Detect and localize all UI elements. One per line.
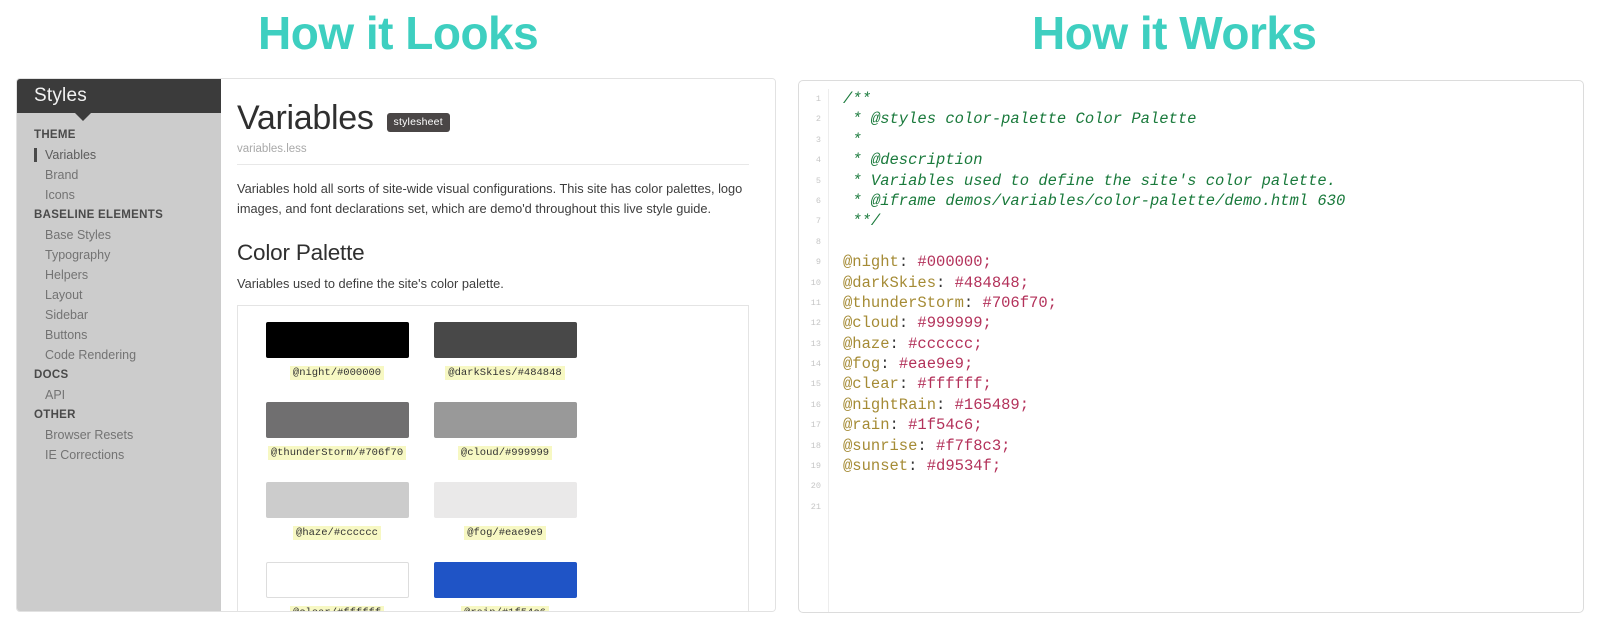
code-line: * @iframe demos/variables/color-palette/…: [843, 191, 1583, 211]
color-swatch: @rain/#1f54c6: [424, 562, 586, 611]
sidebar-item-brand[interactable]: Brand: [17, 165, 221, 185]
color-swatch-label: @night/#000000: [290, 366, 384, 380]
line-number: 21: [799, 497, 821, 517]
code-line: **/: [843, 211, 1583, 231]
color-swatch-box: [434, 562, 577, 598]
sidebar-item-label: Icons: [45, 188, 75, 202]
code-token-variable: @nightRain: [843, 396, 936, 414]
sidebar-item-api[interactable]: API: [17, 385, 221, 405]
sidebar-item-label: Code Rendering: [45, 348, 136, 362]
code-token-variable: @sunset: [843, 457, 908, 475]
code-token-colon: :: [936, 274, 955, 292]
sidebar: Styles THEMEVariablesBrandIconsBASELINE …: [17, 79, 221, 611]
line-number: 4: [799, 150, 821, 170]
code-token-variable: @rain: [843, 416, 890, 434]
code-token-semicolon: ;: [964, 355, 973, 373]
sidebar-item-label: Sidebar: [45, 308, 88, 322]
code-token-variable: @night: [843, 253, 899, 271]
color-swatch-label: @rain/#1f54c6: [461, 606, 549, 611]
code-area: 123456789101112131415161718192021 /** * …: [799, 81, 1583, 612]
section-description: Variables used to define the site's colo…: [237, 276, 749, 291]
line-number: 12: [799, 313, 821, 333]
color-swatch-box: [266, 322, 409, 358]
code-token-colon: :: [899, 314, 918, 332]
code-line: @rain: #1f54c6;: [843, 415, 1583, 435]
color-swatch-label: @fog/#eae9e9: [464, 526, 546, 540]
code-token-colon: :: [890, 335, 909, 353]
doc-title-row: Variables stylesheet: [237, 101, 749, 137]
code-line: * Variables used to define the site's co…: [843, 171, 1583, 191]
sidebar-item-label: Browser Resets: [45, 428, 133, 442]
color-swatch-label: @clear/#ffffff: [290, 606, 384, 611]
source-filename: variables.less: [237, 143, 749, 155]
code-line: @thunderStorm: #706f70;: [843, 293, 1583, 313]
code-token-semicolon: ;: [992, 457, 1001, 475]
sidebar-item-label: Brand: [45, 168, 78, 182]
code-token-comment: *: [843, 131, 862, 149]
line-number: 18: [799, 436, 821, 456]
code-token-variable: @cloud: [843, 314, 899, 332]
code-line: @haze: #cccccc;: [843, 334, 1583, 354]
color-swatch-box: [266, 482, 409, 518]
line-number: 15: [799, 374, 821, 394]
sidebar-item-label: Layout: [45, 288, 83, 302]
color-swatch-box: [266, 402, 409, 438]
code-line: @night: #000000;: [843, 252, 1583, 272]
code-token-semicolon: ;: [973, 335, 982, 353]
line-number: 10: [799, 273, 821, 293]
color-swatch-label: @darkSkies/#484848: [445, 366, 564, 380]
code-line: @sunrise: #f7f8c3;: [843, 436, 1583, 456]
styleguide-preview-panel: Styles THEMEVariablesBrandIconsBASELINE …: [16, 78, 776, 612]
code-token-variable: @clear: [843, 375, 899, 393]
code-token-variable: @sunrise: [843, 437, 917, 455]
sidebar-item-buttons[interactable]: Buttons: [17, 325, 221, 345]
line-number: 7: [799, 211, 821, 231]
page-title: Variables: [237, 101, 374, 137]
code-line: /**: [843, 89, 1583, 109]
code-line: @cloud: #999999;: [843, 313, 1583, 333]
code-line: @clear: #ffffff;: [843, 374, 1583, 394]
code-token-semicolon: ;: [1020, 396, 1029, 414]
sidebar-item-code-rendering[interactable]: Code Rendering: [17, 345, 221, 365]
code-token-comment: * @styles color-palette Color Palette: [843, 110, 1196, 128]
sidebar-item-variables[interactable]: Variables: [17, 145, 221, 165]
code-token-variable: @thunderStorm: [843, 294, 964, 312]
code-token-value: #ffffff: [917, 375, 982, 393]
sidebar-item-icons[interactable]: Icons: [17, 185, 221, 205]
swatch-grid: @night/#000000@darkSkies/#484848@thunder…: [238, 322, 748, 611]
code-token-value: #1f54c6: [908, 416, 973, 434]
code-token-variable: @fog: [843, 355, 880, 373]
sidebar-item-base-styles[interactable]: Base Styles: [17, 225, 221, 245]
color-palette-demo-frame: @night/#000000@darkSkies/#484848@thunder…: [237, 305, 749, 611]
section-title-how-it-works: How it Works: [1032, 10, 1317, 56]
code-token-colon: :: [964, 294, 983, 312]
code-line: * @description: [843, 150, 1583, 170]
code-token-value: #706f70: [983, 294, 1048, 312]
code-token-colon: :: [890, 416, 909, 434]
code-lines: /** * @styles color-palette Color Palett…: [829, 89, 1583, 612]
section-title-how-it-looks: How it Looks: [258, 10, 538, 56]
code-token-semicolon: ;: [1020, 274, 1029, 292]
sidebar-item-ie-corrections[interactable]: IE Corrections: [17, 445, 221, 465]
code-token-value: #eae9e9: [899, 355, 964, 373]
code-line: [843, 476, 1583, 496]
line-number: 17: [799, 415, 821, 435]
sidebar-item-helpers[interactable]: Helpers: [17, 265, 221, 285]
sidebar-item-label: Base Styles: [45, 228, 111, 242]
color-swatch: @clear/#ffffff: [256, 562, 418, 611]
code-token-comment: /**: [843, 90, 871, 108]
color-swatch: @thunderStorm/#706f70: [256, 402, 418, 460]
code-token-value: #cccccc: [908, 335, 973, 353]
color-swatch-box: [434, 402, 577, 438]
triangle-pointer-icon: [75, 113, 91, 121]
page-root: How it Looks How it Works Styles THEMEVa…: [0, 0, 1600, 641]
code-token-semicolon: ;: [973, 416, 982, 434]
source-code-panel: 123456789101112131415161718192021 /** * …: [798, 80, 1584, 613]
code-token-colon: :: [917, 437, 936, 455]
line-number: 9: [799, 252, 821, 272]
code-token-value: #d9534f: [927, 457, 992, 475]
line-number: 19: [799, 456, 821, 476]
color-swatch: @fog/#eae9e9: [424, 482, 586, 540]
code-token-colon: :: [908, 457, 927, 475]
code-token-comment: * @description: [843, 151, 983, 169]
code-token-value: #165489: [955, 396, 1020, 414]
nav-group-label: OTHER: [17, 405, 221, 425]
code-token-variable: @darkSkies: [843, 274, 936, 292]
code-token-semicolon: ;: [983, 253, 992, 271]
sidebar-item-sidebar[interactable]: Sidebar: [17, 305, 221, 325]
color-swatch-box: [434, 322, 577, 358]
color-swatch-box: [434, 482, 577, 518]
code-token-semicolon: ;: [983, 375, 992, 393]
nav-group-label: BASELINE ELEMENTS: [17, 205, 221, 225]
color-swatch-label: @thunderStorm/#706f70: [268, 446, 406, 460]
code-token-semicolon: ;: [1048, 294, 1057, 312]
code-token-comment: * @iframe demos/variables/color-palette/…: [843, 192, 1345, 210]
line-number: 1: [799, 89, 821, 109]
code-line: [843, 497, 1583, 517]
sidebar-nav: THEMEVariablesBrandIconsBASELINE ELEMENT…: [17, 113, 221, 465]
status-badge: stylesheet: [387, 113, 450, 132]
code-token-colon: :: [880, 355, 899, 373]
sidebar-header: Styles: [17, 79, 221, 113]
sidebar-item-label: Helpers: [45, 268, 88, 282]
code-line: @sunset: #d9534f;: [843, 456, 1583, 476]
sidebar-item-label: Typography: [45, 248, 110, 262]
color-swatch-label: @cloud/#999999: [458, 446, 552, 460]
color-swatch-box: [266, 562, 409, 598]
code-token-value: #999999: [917, 314, 982, 332]
color-swatch: @haze/#cccccc: [256, 482, 418, 540]
code-token-variable: @haze: [843, 335, 890, 353]
line-number: 8: [799, 232, 821, 252]
code-line: * @styles color-palette Color Palette: [843, 109, 1583, 129]
color-swatch: @night/#000000: [256, 322, 418, 380]
main-content: Variables stylesheet variables.less Vari…: [221, 79, 775, 611]
nav-group-label: DOCS: [17, 365, 221, 385]
intro-paragraph: Variables hold all sorts of site-wide vi…: [237, 179, 747, 219]
line-number: 5: [799, 171, 821, 191]
sidebar-item-layout[interactable]: Layout: [17, 285, 221, 305]
code-token-value: #000000: [917, 253, 982, 271]
line-number: 3: [799, 130, 821, 150]
code-line: *: [843, 130, 1583, 150]
code-line: @nightRain: #165489;: [843, 395, 1583, 415]
color-swatch-label: @haze/#cccccc: [293, 526, 381, 540]
code-line: @fog: #eae9e9;: [843, 354, 1583, 374]
code-token-colon: :: [899, 375, 918, 393]
line-number: 14: [799, 354, 821, 374]
line-number: 20: [799, 476, 821, 496]
code-token-semicolon: ;: [983, 314, 992, 332]
code-token-colon: :: [936, 396, 955, 414]
code-token-colon: :: [899, 253, 918, 271]
code-line: [843, 232, 1583, 252]
sidebar-item-label: Variables: [45, 148, 96, 162]
line-number: 11: [799, 293, 821, 313]
section-heading: Color Palette: [237, 240, 749, 266]
sidebar-item-typography[interactable]: Typography: [17, 245, 221, 265]
active-indicator-icon: [34, 148, 37, 162]
sidebar-item-label: API: [45, 388, 65, 402]
sidebar-item-label: IE Corrections: [45, 448, 124, 462]
line-number: 2: [799, 109, 821, 129]
color-swatch: @cloud/#999999: [424, 402, 586, 460]
line-number: 13: [799, 334, 821, 354]
divider: [237, 164, 749, 165]
code-token-value: #f7f8c3: [936, 437, 1001, 455]
sidebar-item-label: Buttons: [45, 328, 87, 342]
code-token-comment: * Variables used to define the site's co…: [843, 172, 1336, 190]
line-number-gutter: 123456789101112131415161718192021: [799, 89, 829, 612]
sidebar-header-title: Styles: [34, 85, 87, 107]
code-line: @darkSkies: #484848;: [843, 273, 1583, 293]
code-token-value: #484848: [955, 274, 1020, 292]
code-token-comment: **/: [843, 212, 880, 230]
sidebar-item-browser-resets[interactable]: Browser Resets: [17, 425, 221, 445]
line-number: 6: [799, 191, 821, 211]
code-token-semicolon: ;: [1001, 437, 1010, 455]
line-number: 16: [799, 395, 821, 415]
nav-group-label: THEME: [17, 125, 221, 145]
color-swatch: @darkSkies/#484848: [424, 322, 586, 380]
